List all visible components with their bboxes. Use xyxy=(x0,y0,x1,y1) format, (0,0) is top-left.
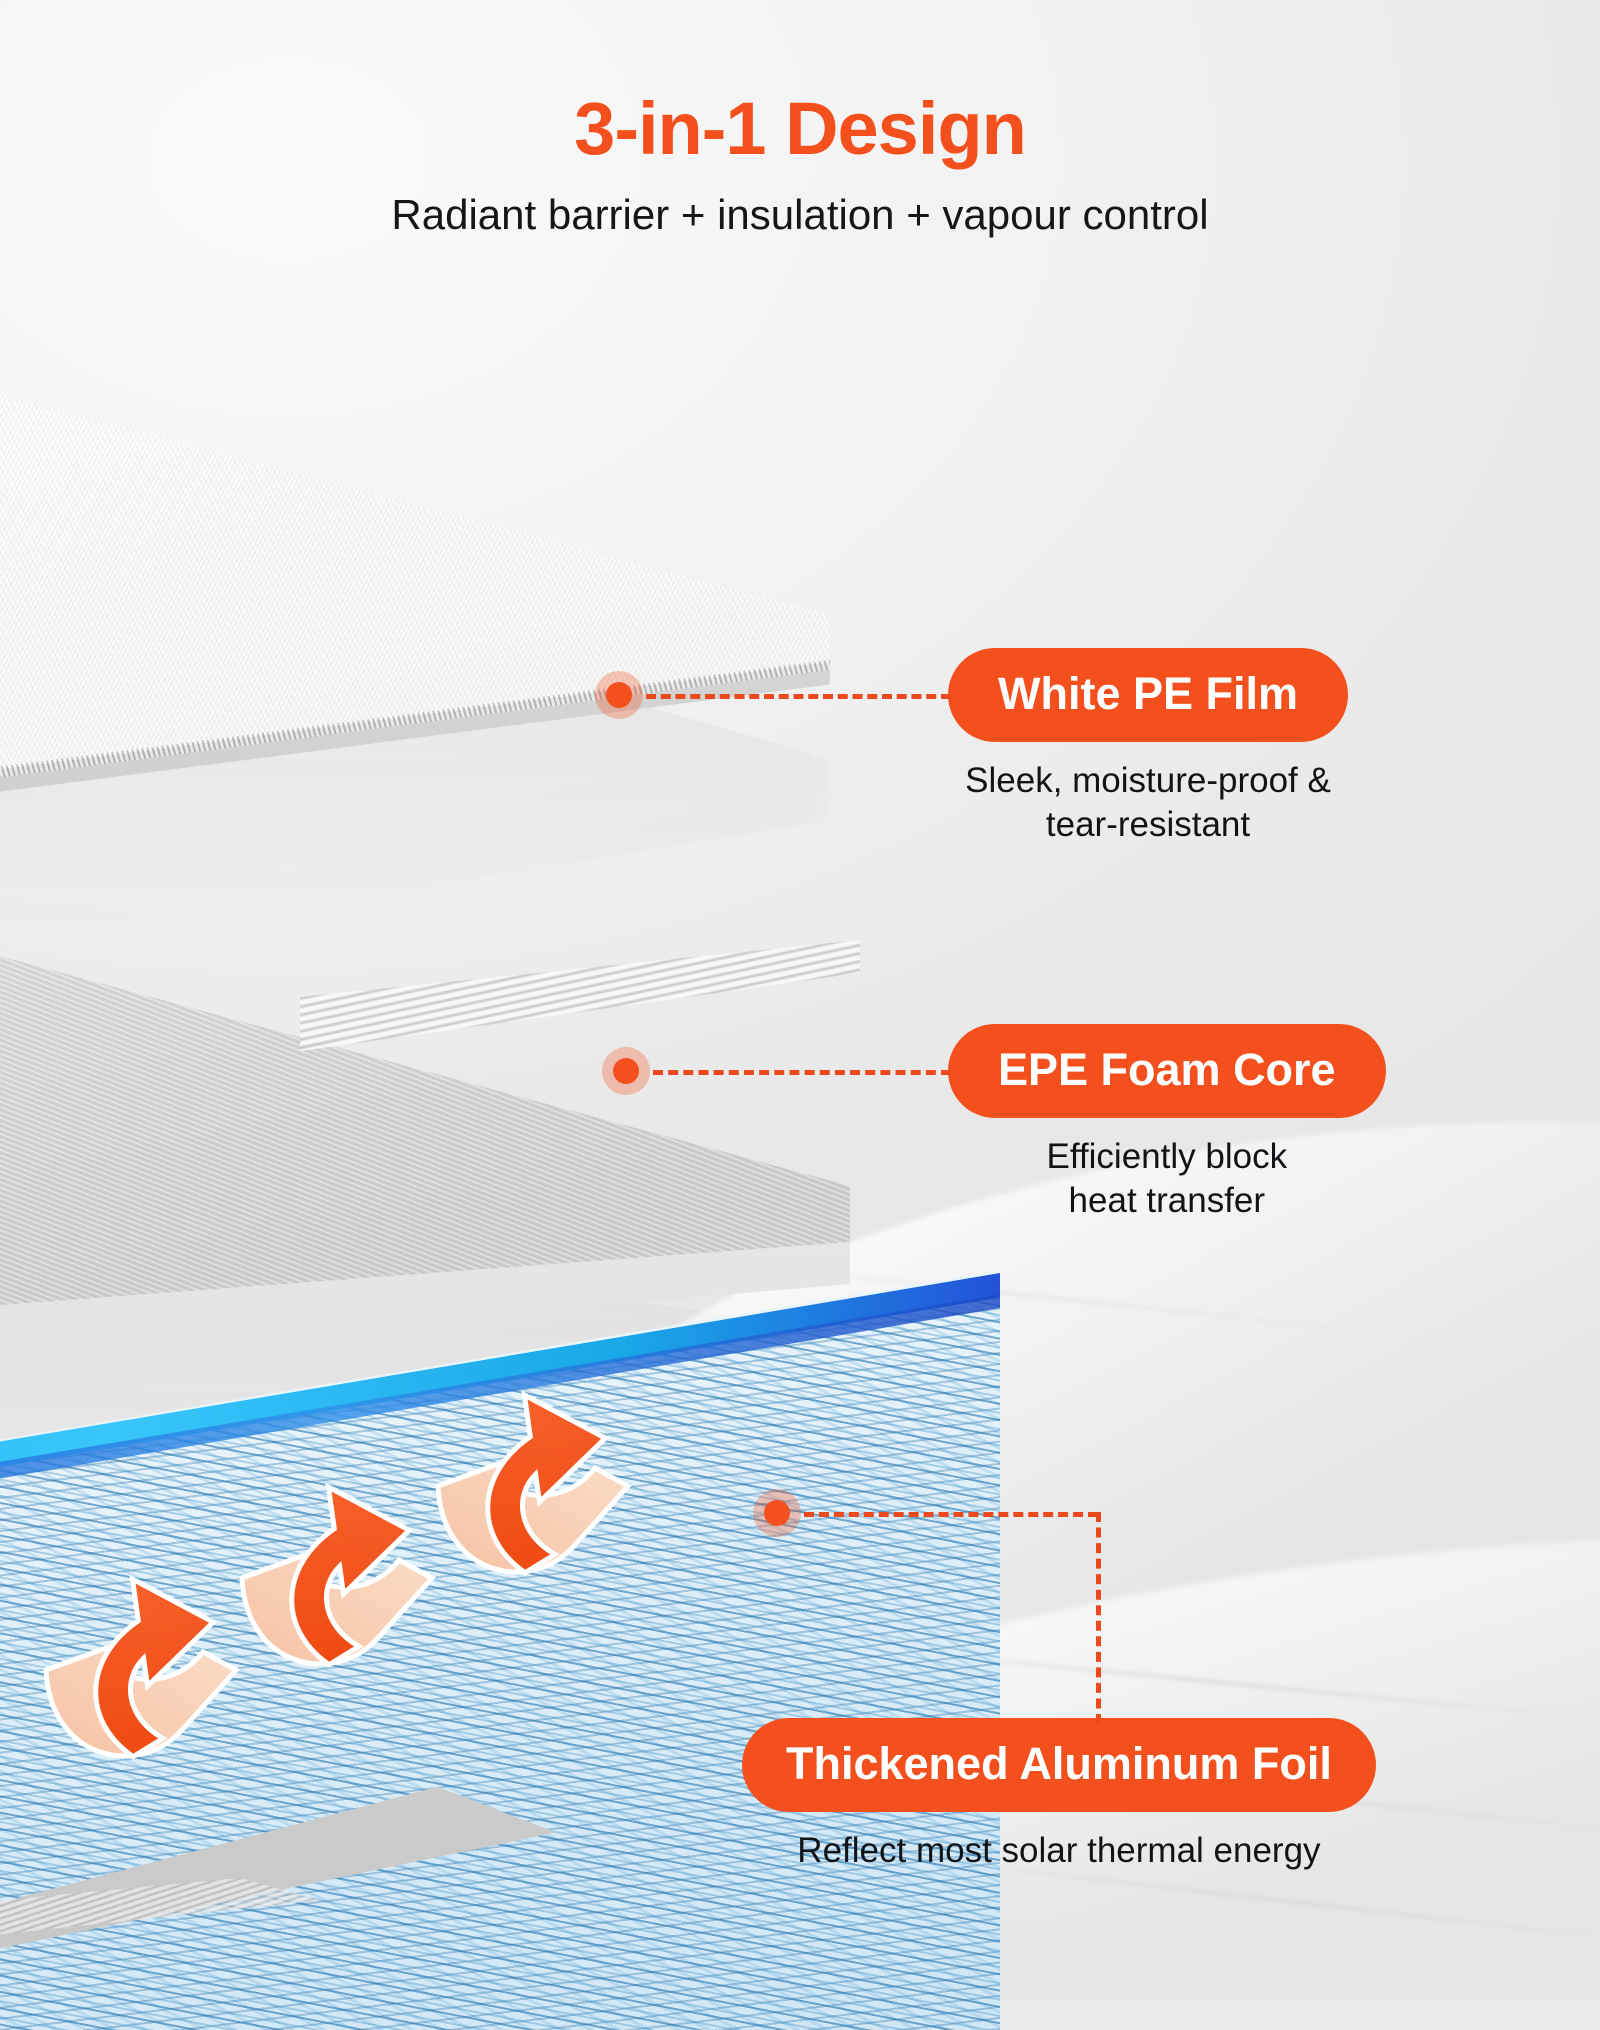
connector-dot-aluminum-foil xyxy=(764,1500,790,1526)
exploded-layer-diagram xyxy=(0,0,1600,2000)
connector-line-epe-foam-core xyxy=(653,1070,951,1075)
callout-thickened-aluminum-foil: Thickened Aluminum Foil Reflect most sol… xyxy=(742,1718,1376,1873)
page-title: 3-in-1 Design xyxy=(0,92,1600,166)
connector-line-white-pe-film xyxy=(646,694,951,699)
pe-film-top-surface xyxy=(0,270,830,830)
callout-white-pe-film: White PE Film Sleek, moisture-proof & te… xyxy=(948,648,1348,847)
connector-line-aluminum-foil-horizontal xyxy=(804,1512,1098,1517)
callout-label-epe-foam-core[interactable]: EPE Foam Core xyxy=(948,1024,1386,1118)
callout-label-thickened-aluminum-foil[interactable]: Thickened Aluminum Foil xyxy=(742,1718,1376,1812)
connector-dot-white-pe-film xyxy=(606,682,632,708)
connector-dot-epe-foam-core xyxy=(613,1058,639,1084)
callout-label-white-pe-film[interactable]: White PE Film xyxy=(948,648,1348,742)
heat-arrow-3 xyxy=(438,1385,628,1577)
callout-caption-epe-foam-core: Efficiently block heat transfer xyxy=(948,1135,1386,1223)
heat-arrow-2 xyxy=(242,1477,432,1669)
connector-line-aluminum-foil-vertical xyxy=(1096,1512,1101,1724)
layer-white-pe-film xyxy=(0,270,830,830)
header: 3-in-1 Design Radiant barrier + insulati… xyxy=(0,92,1600,236)
heat-reflection-arrows-group xyxy=(40,1380,760,1800)
callout-epe-foam-core: EPE Foam Core Efficiently block heat tra… xyxy=(948,1024,1386,1223)
callout-caption-thickened-aluminum-foil: Reflect most solar thermal energy xyxy=(742,1829,1376,1873)
callout-caption-white-pe-film: Sleek, moisture-proof & tear-resistant xyxy=(948,759,1348,847)
heat-arrow-1 xyxy=(46,1569,236,1761)
page-subtitle: Radiant barrier + insulation + vapour co… xyxy=(0,194,1600,236)
